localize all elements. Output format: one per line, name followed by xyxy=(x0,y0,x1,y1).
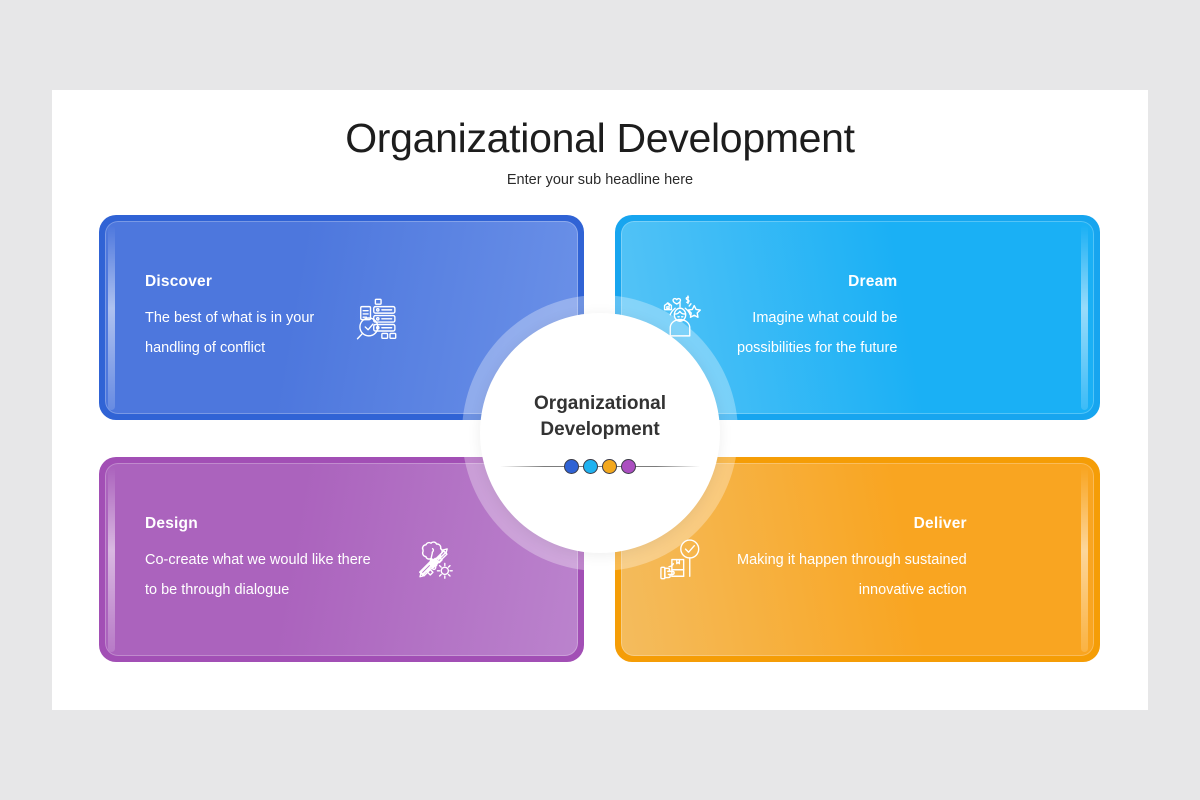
card-dream-title: Dream xyxy=(848,273,897,291)
dot-dream xyxy=(583,459,598,474)
slide-canvas: Organizational Development Enter your su… xyxy=(52,90,1148,710)
card-design-description: Co-create what we would like there to be… xyxy=(145,545,371,605)
data-search-icon xyxy=(342,283,412,353)
card-discover-desc-line-2: handling of conflict xyxy=(145,333,314,363)
card-discover-title: Discover xyxy=(145,273,212,291)
card-dream-desc-line-1: Imagine what could be xyxy=(737,303,897,333)
card-discover-desc-line-1: The best of what is in your xyxy=(145,303,314,333)
card-deliver-title: Deliver xyxy=(914,515,967,533)
hub-dots xyxy=(564,459,636,474)
creative-idea-gear-icon xyxy=(399,525,469,595)
card-dream-description: Imagine what could be possibilities for … xyxy=(737,303,897,363)
card-dream-desc-line-2: possibilities for the future xyxy=(737,333,897,363)
dot-discover xyxy=(564,459,579,474)
card-design-desc-line-1: Co-create what we would like there xyxy=(145,545,371,575)
center-hub[interactable]: Organizational Development xyxy=(480,313,720,553)
card-deliver-text: Deliver Making it happen through sustain… xyxy=(737,515,967,605)
card-discover-description: The best of what is in your handling of … xyxy=(145,303,314,363)
card-deliver-description: Making it happen through sustained innov… xyxy=(737,545,967,605)
card-design-title: Design xyxy=(145,515,198,533)
dot-deliver xyxy=(602,459,617,474)
page-subtitle: Enter your sub headline here xyxy=(52,172,1148,188)
card-discover-text: Discover The best of what is in your han… xyxy=(145,273,314,363)
hub-title: Organizational Development xyxy=(534,391,666,443)
card-deliver-desc-line-2: innovative action xyxy=(737,575,967,605)
dot-design xyxy=(621,459,636,474)
page-title: Organizational Development xyxy=(52,115,1148,162)
card-dream-text: Dream Imagine what could be possibilitie… xyxy=(737,273,897,363)
card-deliver-desc-line-1: Making it happen through sustained xyxy=(737,545,967,575)
card-design-text: Design Co-create what we would like ther… xyxy=(145,515,371,605)
hub-dot-row xyxy=(500,457,700,475)
card-design-desc-line-2: to be through dialogue xyxy=(145,575,371,605)
